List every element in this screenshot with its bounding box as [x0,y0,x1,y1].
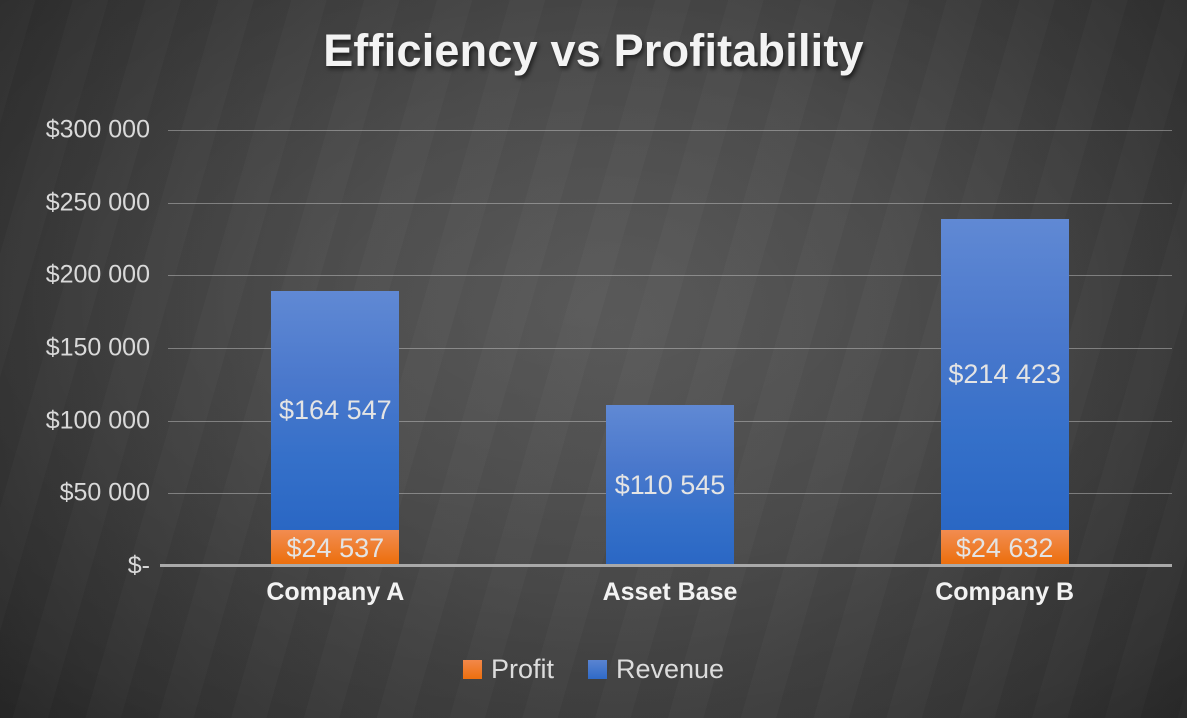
bar-segment-revenue[interactable]: $164 547 [271,291,399,530]
chart-title: Efficiency vs Profitability [0,25,1187,77]
revenue-swatch-icon [588,660,607,679]
gridline [168,203,1172,204]
chart-legend: ProfitRevenue [0,654,1187,685]
legend-item[interactable]: Profit [463,654,554,685]
x-axis-category-label: Asset Base [520,578,820,607]
bar-value-label: $164 547 [279,397,392,424]
bar-value-label: $24 537 [287,535,385,562]
legend-item[interactable]: Revenue [588,654,724,685]
y-axis-tick-label: $50 000 [0,479,150,508]
y-axis-tick-label: $300 000 [0,116,150,145]
bar-value-label: $24 632 [956,535,1054,562]
bar-segment-revenue[interactable]: $110 545 [606,405,734,566]
legend-label: Revenue [616,654,724,685]
x-axis-line [160,564,1172,567]
x-axis-category-label: Company A [185,578,485,607]
x-axis-category-label: Company B [855,578,1155,607]
profit-swatch-icon [463,660,482,679]
y-axis-tick-label: $200 000 [0,261,150,290]
y-axis: $300 000$250 000$200 000$150 000$100 000… [0,130,150,566]
y-axis-tick-label: $250 000 [0,188,150,217]
y-axis-tick-label: $100 000 [0,406,150,435]
bar-segment-revenue[interactable]: $214 423 [941,219,1069,531]
bar-segment-profit[interactable]: $24 537 [271,530,399,566]
legend-label: Profit [491,654,554,685]
plot-area: $24 537$164 547$110 545$24 632$214 423 [168,130,1172,566]
bar-value-label: $214 423 [948,361,1061,388]
y-axis-tick-label: $150 000 [0,334,150,363]
bar-segment-profit[interactable]: $24 632 [941,530,1069,566]
bar-value-label: $110 545 [615,472,726,499]
gridline [168,130,1172,131]
chart-canvas: Efficiency vs Profitability $300 000$250… [0,0,1187,718]
y-axis-tick-label: $- [0,552,150,581]
